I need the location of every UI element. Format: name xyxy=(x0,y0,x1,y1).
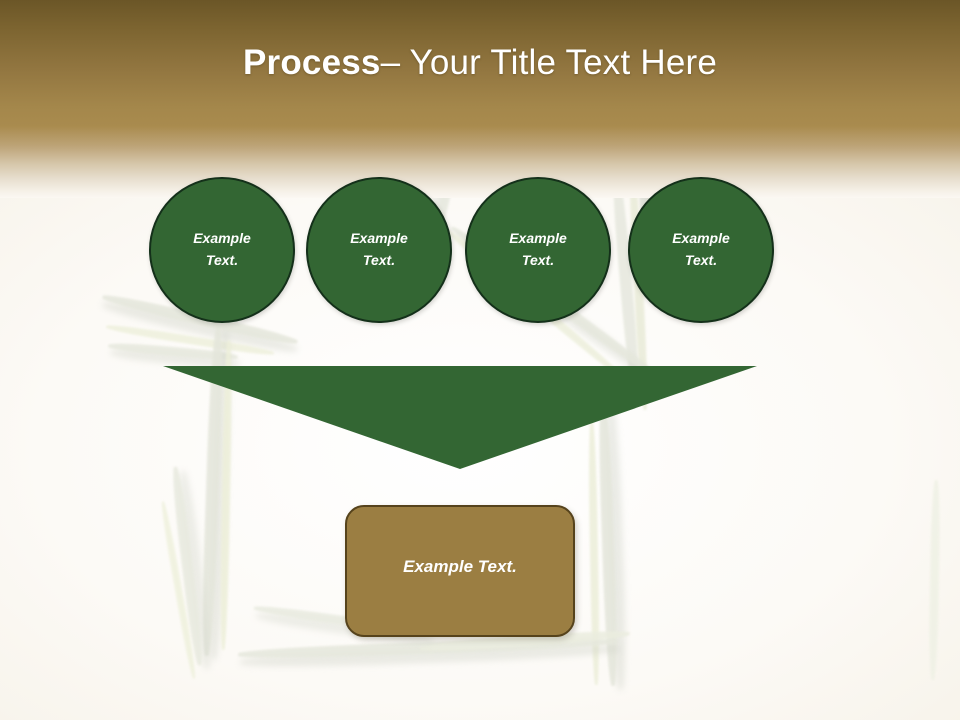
down-arrow-icon xyxy=(163,366,757,469)
process-result-box[interactable]: Example Text. xyxy=(345,505,575,637)
process-step-circle-4-label: Example Text. xyxy=(672,228,730,273)
process-step-circle-1-label: Example Text. xyxy=(193,228,251,273)
step-4-line-2: Text. xyxy=(672,250,730,272)
process-step-circle-4[interactable]: Example Text. xyxy=(628,177,774,323)
page-title-bold: Process xyxy=(243,43,381,83)
step-3-line-1: Example xyxy=(509,228,567,250)
step-2-line-2: Text. xyxy=(350,250,408,272)
process-step-circle-3[interactable]: Example Text. xyxy=(465,177,611,323)
process-step-circle-3-label: Example Text. xyxy=(509,228,567,273)
process-step-circle-2-label: Example Text. xyxy=(350,228,408,273)
page-title: Process – Your Title Text Here xyxy=(0,0,960,126)
step-4-line-1: Example xyxy=(672,228,730,250)
step-1-line-2: Text. xyxy=(193,250,251,272)
page-title-rest: – Your Title Text Here xyxy=(381,43,717,83)
process-step-circle-1[interactable]: Example Text. xyxy=(149,177,295,323)
step-1-line-1: Example xyxy=(193,228,251,250)
process-step-circle-2[interactable]: Example Text. xyxy=(306,177,452,323)
process-result-label: Example Text. xyxy=(403,557,517,577)
title-bar-fade xyxy=(0,126,960,198)
slide-canvas: Process – Your Title Text Here Example T… xyxy=(0,0,960,720)
step-3-line-2: Text. xyxy=(509,250,567,272)
step-2-line-1: Example xyxy=(350,228,408,250)
